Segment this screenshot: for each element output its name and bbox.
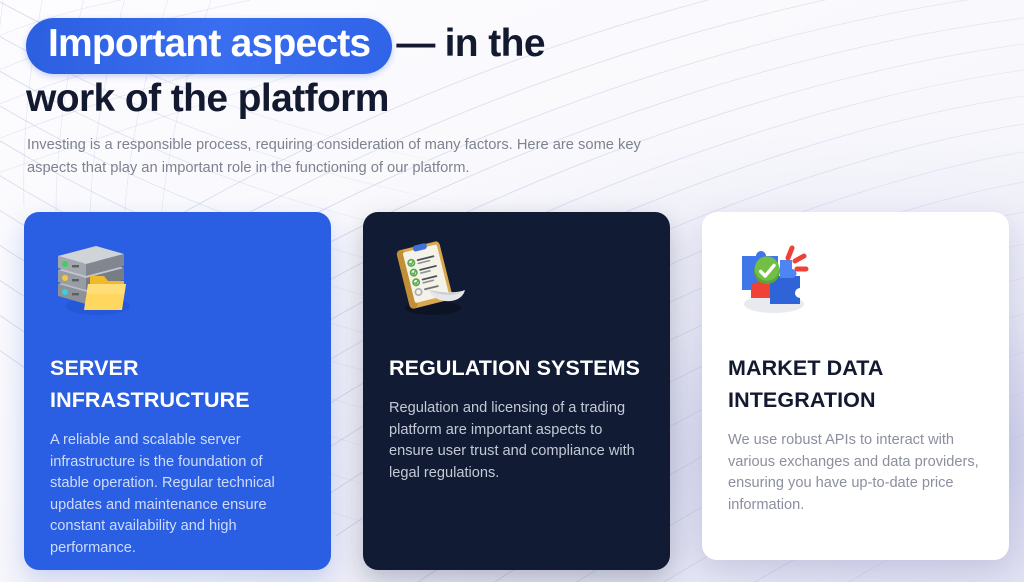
feature-card-regulation-systems[interactable]: REGULATION SYSTEMS Regulation and licens… (363, 212, 670, 570)
puzzle-pieces-check-icon (728, 238, 983, 330)
page-title-line-2: work of the platform (26, 77, 389, 120)
feature-card-title: MARKET DATA INTEGRATION (728, 352, 983, 416)
feature-card-text: Regulation and licensing of a trading pl… (389, 398, 644, 484)
feature-card-text: A reliable and scalable server infrastru… (50, 430, 305, 559)
server-rack-folder-icon (50, 238, 305, 330)
page-title-highlight-pill: Important aspects (26, 18, 392, 74)
headline-block: Important aspects— in thework of the pla… (26, 18, 706, 124)
feature-card-list: SERVER INFRASTRUCTURE A reliable and sca… (24, 212, 1009, 570)
feature-card-server-infrastructure[interactable]: SERVER INFRASTRUCTURE A reliable and sca… (24, 212, 331, 570)
page-subtitle: Investing is a responsible process, requ… (27, 134, 672, 180)
feature-card-title: REGULATION SYSTEMS (389, 352, 644, 384)
feature-card-text: We use robust APIs to interact with vari… (728, 430, 983, 516)
page-title: Important aspects— in thework of the pla… (26, 18, 706, 124)
page-title-rest: in the (434, 22, 545, 65)
feature-card-market-data-integration[interactable]: MARKET DATA INTEGRATION We use robust AP… (702, 212, 1009, 560)
page-title-dash: — (396, 22, 434, 65)
feature-card-title: SERVER INFRASTRUCTURE (50, 352, 305, 416)
clipboard-checklist-icon (389, 238, 644, 330)
